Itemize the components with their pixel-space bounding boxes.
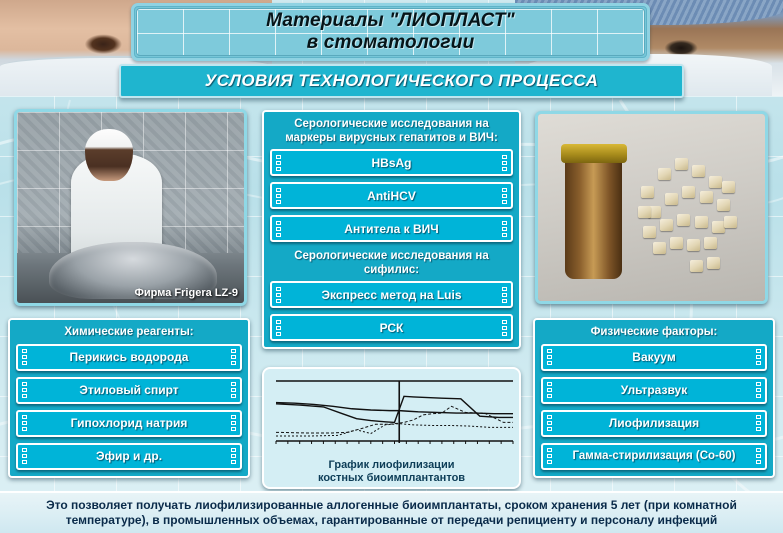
film-sprocket-left-icon [276, 155, 281, 171]
test-button-antihcv[interactable]: AntiHCV [270, 182, 513, 209]
film-sprocket-left-icon [547, 448, 552, 464]
film-sprocket-right-icon [756, 448, 761, 464]
film-sprocket-right-icon [756, 349, 761, 365]
test-button-express-luis[interactable]: Экспресс метод на Luis [270, 281, 513, 308]
film-sprocket-left-icon [22, 448, 27, 464]
factor-button-gamma-sterilization[interactable]: Гамма-стирилизация (Со-60) [541, 443, 767, 470]
slide-title-banner: Материалы "ЛИОПЛАСТ" в стоматологии [131, 3, 650, 61]
freeze-dryer-operator-photo: Фирма Frigera LZ-9 [14, 109, 247, 306]
film-sprocket-right-icon [502, 188, 507, 204]
slide-title-inner: Материалы "ЛИОПЛАСТ" в стоматологии [136, 8, 645, 56]
film-sprocket-left-icon [547, 349, 552, 365]
reagent-button-hydrogen-peroxide[interactable]: Перикись водорода [16, 344, 242, 371]
test-button-rsk[interactable]: РСК [270, 314, 513, 341]
film-sprocket-right-icon [502, 287, 507, 303]
factor-button-label: Гамма-стирилизация (Со-60) [556, 450, 751, 462]
slide-subtitle-text: УСЛОВИЯ ТЕХНОЛОГИЧЕСКОГО ПРОЦЕССА [205, 71, 599, 91]
reagent-button-sodium-hypochlorite[interactable]: Гипохлорид натрия [16, 410, 242, 437]
physical-factors-title: Физические факторы: [541, 324, 767, 344]
test-button-label: HBsAg [349, 156, 433, 170]
bone-chips-pile [633, 148, 756, 275]
film-sprocket-left-icon [22, 415, 27, 431]
film-sprocket-right-icon [231, 448, 236, 464]
film-sprocket-right-icon [231, 382, 236, 398]
factor-button-ultrasound[interactable]: Ультразвук [541, 377, 767, 404]
film-sprocket-left-icon [22, 349, 27, 365]
serological-tests-title: Серологические исследования на маркеры в… [270, 116, 513, 149]
glass-vial [565, 155, 622, 278]
chart-caption: График лиофилизации костных биоимплантан… [270, 458, 513, 484]
slide-title-line-2: в стоматологии [307, 32, 475, 54]
lyophilized-bone-implants-photo [535, 111, 768, 304]
physical-factors-panel: Физические факторы: Вакуум Ультразвук Ли… [533, 318, 775, 478]
serological-tests-panel: Серологические исследования на маркеры в… [262, 110, 521, 349]
chart-caption-line-1: График лиофилизации [270, 459, 513, 472]
film-sprocket-right-icon [502, 155, 507, 171]
lyophilization-chart-card: График лиофилизации костных биоимплантан… [262, 367, 521, 489]
conclusion-caption-text: Это позволяет получать лиофилизированные… [6, 498, 777, 528]
lab-scene [17, 112, 244, 303]
film-sprocket-right-icon [502, 221, 507, 237]
film-sprocket-right-icon [231, 415, 236, 431]
chemical-reagents-title: Химические реагенты: [16, 324, 242, 344]
test-button-hbsag[interactable]: HBsAg [270, 149, 513, 176]
film-sprocket-left-icon [276, 320, 281, 336]
test-button-label: Экспресс метод на Luis [300, 288, 484, 302]
chemical-reagents-panel: Химические реагенты: Перикись водорода Э… [8, 318, 250, 478]
photo-left-caption: Фирма Frigera LZ-9 [135, 287, 238, 299]
factor-button-label: Лиофилизация [587, 416, 721, 430]
film-sprocket-left-icon [276, 188, 281, 204]
film-sprocket-right-icon [231, 349, 236, 365]
vial-gold-cap [561, 144, 627, 163]
operator-head [85, 129, 133, 181]
test-button-label: Антитела к ВИЧ [322, 222, 460, 236]
reagent-button-label: Этиловый спирт [57, 383, 200, 397]
film-sprocket-left-icon [547, 382, 552, 398]
chart-caption-line-2: костных биоимплантантов [270, 472, 513, 485]
film-sprocket-left-icon [22, 382, 27, 398]
test-button-label: РСК [358, 321, 426, 335]
slide-title-line-1: Материалы "ЛИОПЛАСТ" [266, 10, 515, 32]
reagent-button-label: Гипохлорид натрия [49, 416, 210, 430]
film-sprocket-right-icon [756, 415, 761, 431]
test-button-hiv-antibodies[interactable]: Антитела к ВИЧ [270, 215, 513, 242]
factor-button-vacuum[interactable]: Вакуум [541, 344, 767, 371]
conclusion-caption-bar: Это позволяет получать лиофилизированные… [0, 491, 783, 533]
lyophilization-chart-plot [270, 373, 513, 458]
factor-button-label: Ультразвук [599, 383, 709, 397]
film-sprocket-left-icon [276, 287, 281, 303]
film-sprocket-left-icon [547, 415, 552, 431]
film-sprocket-right-icon [756, 382, 761, 398]
reagent-button-ethyl-alcohol[interactable]: Этиловый спирт [16, 377, 242, 404]
film-sprocket-left-icon [276, 221, 281, 237]
reagent-button-ether[interactable]: Эфир и др. [16, 443, 242, 470]
reagent-button-label: Перикись водорода [48, 350, 211, 364]
syphilis-tests-subtitle: Серологические исследования на сифилис: [270, 248, 513, 281]
presentation-slide: Материалы "ЛИОПЛАСТ" в стоматологии УСЛО… [0, 0, 783, 533]
test-button-label: AntiHCV [345, 189, 438, 203]
bone-chips-scene [538, 114, 765, 301]
factor-button-label: Вакуум [610, 350, 697, 364]
factor-button-lyophilization[interactable]: Лиофилизация [541, 410, 767, 437]
reagent-button-label: Эфир и др. [74, 449, 184, 463]
slide-subtitle-banner: УСЛОВИЯ ТЕХНОЛОГИЧЕСКОГО ПРОЦЕССА [119, 64, 684, 98]
film-sprocket-right-icon [502, 320, 507, 336]
lyophilization-chart-svg [270, 373, 517, 453]
